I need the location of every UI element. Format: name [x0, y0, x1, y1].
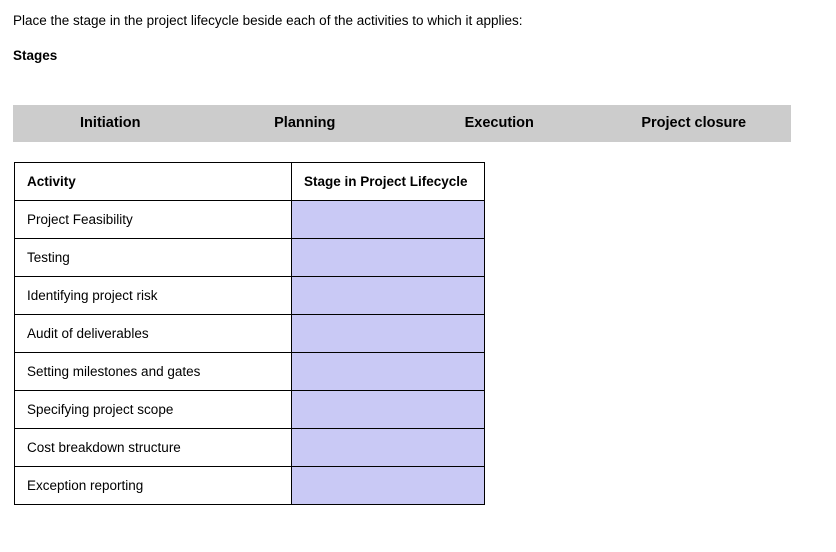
table-header-row: Activity Stage in Project Lifecycle [15, 163, 485, 201]
activity-label: Identifying project risk [15, 277, 292, 315]
quiz-page: Place the stage in the project lifecycle… [0, 0, 836, 552]
answer-dropzone[interactable] [292, 391, 485, 429]
activity-label: Project Feasibility [15, 201, 292, 239]
table-row: Specifying project scope [15, 391, 485, 429]
table-row: Exception reporting [15, 467, 485, 505]
activity-label: Audit of deliverables [15, 315, 292, 353]
answer-dropzone[interactable] [292, 467, 485, 505]
stage-option-initiation[interactable]: Initiation [13, 115, 208, 132]
answer-dropzone[interactable] [292, 353, 485, 391]
table-row: Project Feasibility [15, 201, 485, 239]
column-header-activity: Activity [15, 163, 292, 201]
column-header-stage: Stage in Project Lifecycle [292, 163, 485, 201]
activity-label: Cost breakdown structure [15, 429, 292, 467]
table-row: Audit of deliverables [15, 315, 485, 353]
activity-label: Specifying project scope [15, 391, 292, 429]
instruction-text: Place the stage in the project lifecycle… [13, 13, 523, 29]
activity-label: Setting milestones and gates [15, 353, 292, 391]
answer-dropzone[interactable] [292, 239, 485, 277]
answer-dropzone[interactable] [292, 277, 485, 315]
answer-dropzone[interactable] [292, 429, 485, 467]
stage-option-project-closure[interactable]: Project closure [597, 115, 792, 132]
activity-label: Exception reporting [15, 467, 292, 505]
table-row: Testing [15, 239, 485, 277]
activity-stage-table: Activity Stage in Project Lifecycle Proj… [14, 162, 485, 505]
activity-label: Testing [15, 239, 292, 277]
answer-dropzone[interactable] [292, 201, 485, 239]
answer-dropzone[interactable] [292, 315, 485, 353]
table-row: Cost breakdown structure [15, 429, 485, 467]
stage-options-bar: Initiation Planning Execution Project cl… [13, 105, 791, 142]
table-row: Setting milestones and gates [15, 353, 485, 391]
stages-heading: Stages [13, 48, 57, 64]
stage-option-planning[interactable]: Planning [208, 115, 403, 132]
table-row: Identifying project risk [15, 277, 485, 315]
stage-option-execution[interactable]: Execution [402, 115, 597, 132]
